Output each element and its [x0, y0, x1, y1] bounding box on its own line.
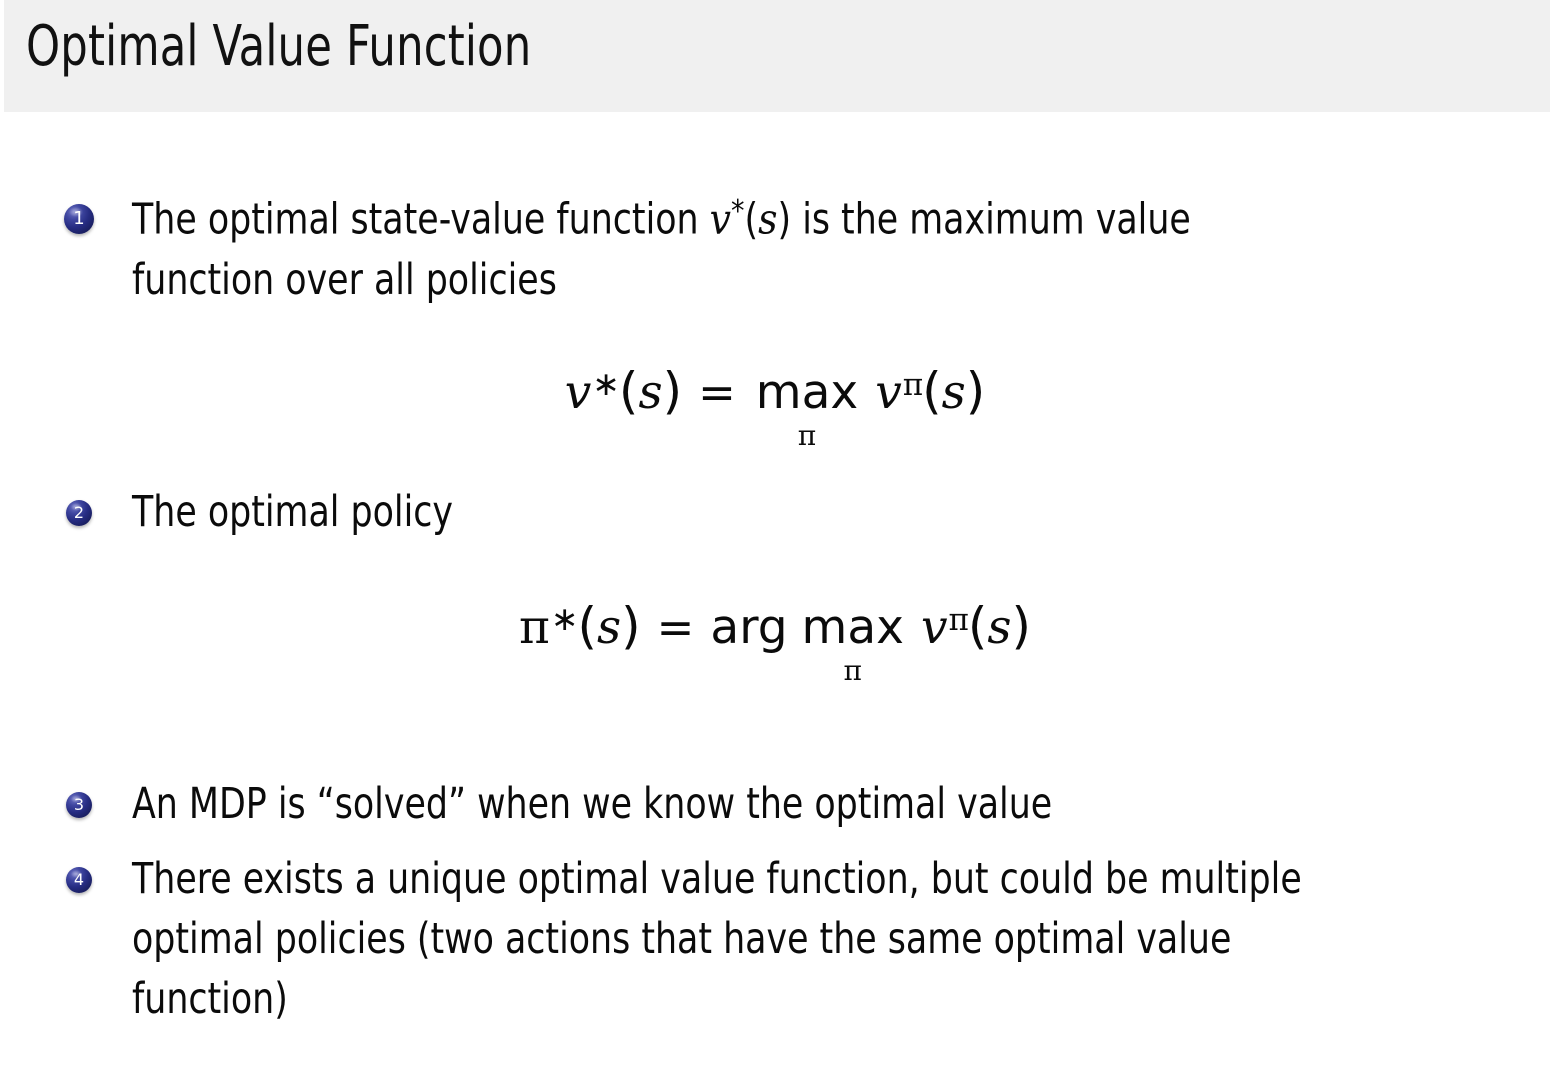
equation-1-operator-subscript: π	[798, 422, 816, 450]
list-item-3-line-1: An MDP is “solved” when we know the opti…	[132, 779, 1052, 829]
math-paren-open: (	[745, 195, 759, 245]
bullet-number-4: 4	[74, 872, 84, 888]
equation-1-relation: =	[698, 366, 736, 419]
bullet-number-2: 2	[74, 505, 84, 521]
list-item-1-line-2: function over all policies	[132, 255, 557, 305]
equation-2-operator: max π	[802, 604, 904, 685]
list-item-4-line-1: There exists a unique optimal value func…	[132, 854, 1302, 904]
equation-2-relation: =	[657, 601, 695, 654]
equation-2-arg-word: arg	[710, 600, 787, 655]
bullet-marker-1: 1	[64, 204, 94, 234]
equation-1-operator: max π	[756, 369, 858, 450]
math-star-superscript: *	[731, 194, 745, 229]
equation-1-rhs-argument: s	[942, 365, 966, 420]
bullet-marker-4: 4	[66, 867, 92, 893]
equation-1-close-paren: )	[663, 362, 683, 420]
equation-1-rhs-symbol: v	[875, 365, 902, 420]
equation-2-rhs-argument: s	[987, 600, 1011, 655]
page-title: Optimal Value Function	[26, 16, 531, 78]
equation-1-argument: s	[638, 365, 662, 420]
equation-2-argument: s	[597, 600, 621, 655]
bullet-marker-2: 2	[66, 500, 92, 526]
list-item-4-line-2: optimal policies (two actions that have …	[132, 914, 1231, 964]
equation-2-close-paren: )	[621, 597, 641, 655]
equation-2-rhs-close-paren: )	[1012, 597, 1032, 655]
slide-content: 1 The optimal state-value function v*(s)…	[0, 112, 1550, 1080]
equation-2-lhs-symbol: π	[519, 600, 550, 655]
equation-2-operator-label: max	[802, 604, 904, 651]
equation-1-lhs-star: ∗	[592, 364, 620, 403]
bullet-number-3: 3	[74, 797, 84, 813]
equation-1-rhs-open-paren: (	[922, 362, 942, 420]
list-item-4-line-3: function)	[132, 974, 288, 1024]
equation-2-open-paren: (	[578, 597, 598, 655]
optimal-value-equation: v∗(s) = max π vπ(s)	[0, 362, 1550, 450]
slide-header: Optimal Value Function	[0, 0, 1550, 112]
equation-1-lhs-symbol: v	[565, 365, 592, 420]
list-item-1-text-post: is the maximum value	[791, 195, 1191, 245]
list-item-1-line-1: The optimal state-value function v*(s) i…	[132, 194, 1191, 245]
math-paren-close: )	[778, 195, 792, 245]
list-item-2-line-1: The optimal policy	[132, 487, 453, 537]
optimal-policy-equation: π∗(s) = arg max π vπ(s)	[0, 597, 1550, 685]
equation-1-open-paren: (	[619, 362, 639, 420]
equation-2-rhs-superscript: π	[949, 602, 969, 638]
bullet-number-1: 1	[73, 210, 84, 228]
header-left-edge	[0, 0, 4, 112]
equation-1-operator-label: max	[756, 369, 858, 416]
equation-1-rhs-close-paren: )	[966, 362, 986, 420]
list-item-1-text-pre: The optimal state-value function	[132, 195, 710, 245]
equation-1-rhs-superscript: π	[903, 367, 923, 403]
equation-2-lhs-star: ∗	[551, 599, 579, 638]
equation-2-rhs-open-paren: (	[968, 597, 988, 655]
math-symbol-v: v	[710, 195, 731, 244]
equation-2-operator-subscript: π	[844, 657, 862, 685]
bullet-marker-3: 3	[66, 792, 92, 818]
math-symbol-s: s	[758, 195, 777, 244]
equation-2-rhs-symbol: v	[921, 600, 948, 655]
